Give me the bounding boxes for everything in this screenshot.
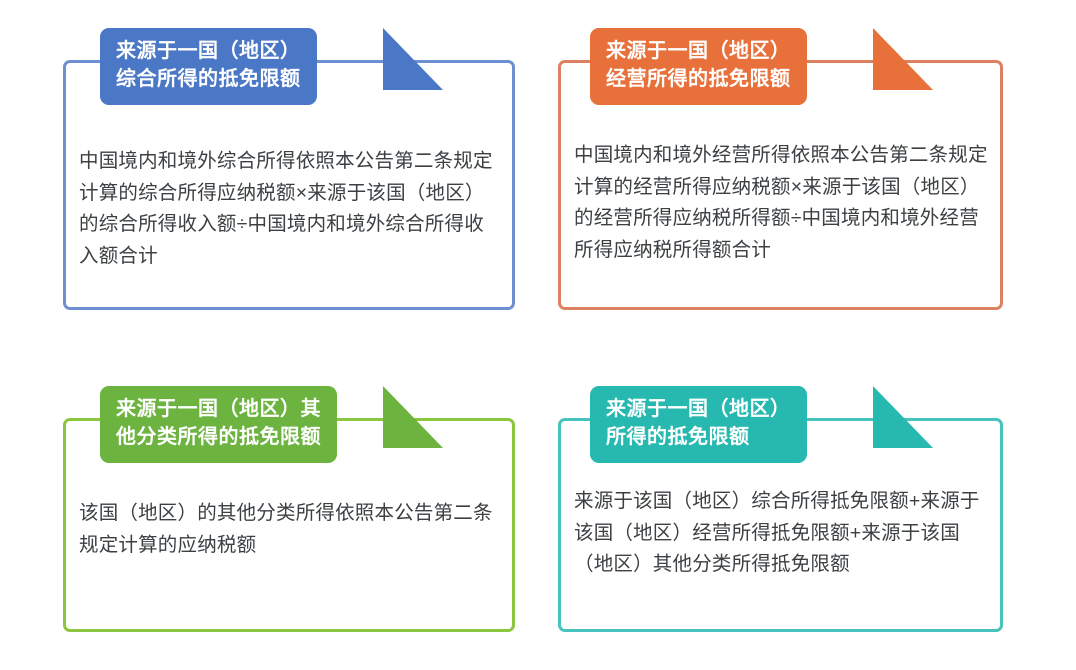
card-header-banner: 来源于一国（地区） 经营所得的抵免限额 — [590, 28, 807, 105]
header-pill: 来源于一国（地区）其 他分类所得的抵免限额 — [100, 386, 337, 463]
card-body-text: 中国境内和境外综合所得依照本公告第二条规定计算的综合所得应纳税额×来源于该国（地… — [79, 146, 499, 272]
card-body-text: 该国（地区）的其他分类所得依照本公告第二条规定计算的应纳税额 — [79, 498, 499, 561]
banner-tail-triangle — [383, 386, 443, 448]
header-pill: 来源于一国（地区） 综合所得的抵免限额 — [100, 28, 317, 105]
banner-tail-triangle — [383, 28, 443, 90]
header-pill: 来源于一国（地区） 经营所得的抵免限额 — [590, 28, 807, 105]
card-header-title: 来源于一国（地区） 综合所得的抵免限额 — [116, 37, 301, 94]
card-header-title: 来源于一国（地区）其 他分类所得的抵免限额 — [116, 395, 321, 452]
banner-tail-triangle — [873, 28, 933, 90]
card-body-text: 来源于该国（地区）综合所得抵免限额+来源于该国（地区）经营所得抵免限额+来源于该… — [574, 486, 989, 581]
card-header-banner: 来源于一国（地区）其 他分类所得的抵免限额 — [100, 386, 337, 463]
banner-tail-triangle — [873, 386, 933, 448]
card-business-income: 来源于一国（地区） 经营所得的抵免限额 中国境内和境外经营所得依照本公告第二条规… — [558, 60, 1003, 310]
card-header-banner: 来源于一国（地区） 所得的抵免限额 — [590, 386, 807, 463]
card-body-text: 中国境内和境外经营所得依照本公告第二条规定计算的经营所得应纳税额×来源于该国（地… — [574, 140, 989, 266]
card-header-title: 来源于一国（地区） 经营所得的抵免限额 — [606, 37, 791, 94]
header-pill: 来源于一国（地区） 所得的抵免限额 — [590, 386, 807, 463]
infographic-canvas: 来源于一国（地区） 综合所得的抵免限额 中国境内和境外综合所得依照本公告第二条规… — [0, 0, 1076, 670]
card-header-banner: 来源于一国（地区） 综合所得的抵免限额 — [100, 28, 317, 105]
card-comprehensive-income: 来源于一国（地区） 综合所得的抵免限额 中国境内和境外综合所得依照本公告第二条规… — [63, 60, 515, 310]
card-total-income: 来源于一国（地区） 所得的抵免限额 来源于该国（地区）综合所得抵免限额+来源于该… — [558, 418, 1003, 632]
card-header-title: 来源于一国（地区） 所得的抵免限额 — [606, 395, 791, 452]
card-other-categorized-income: 来源于一国（地区）其 他分类所得的抵免限额 该国（地区）的其他分类所得依照本公告… — [63, 418, 515, 632]
